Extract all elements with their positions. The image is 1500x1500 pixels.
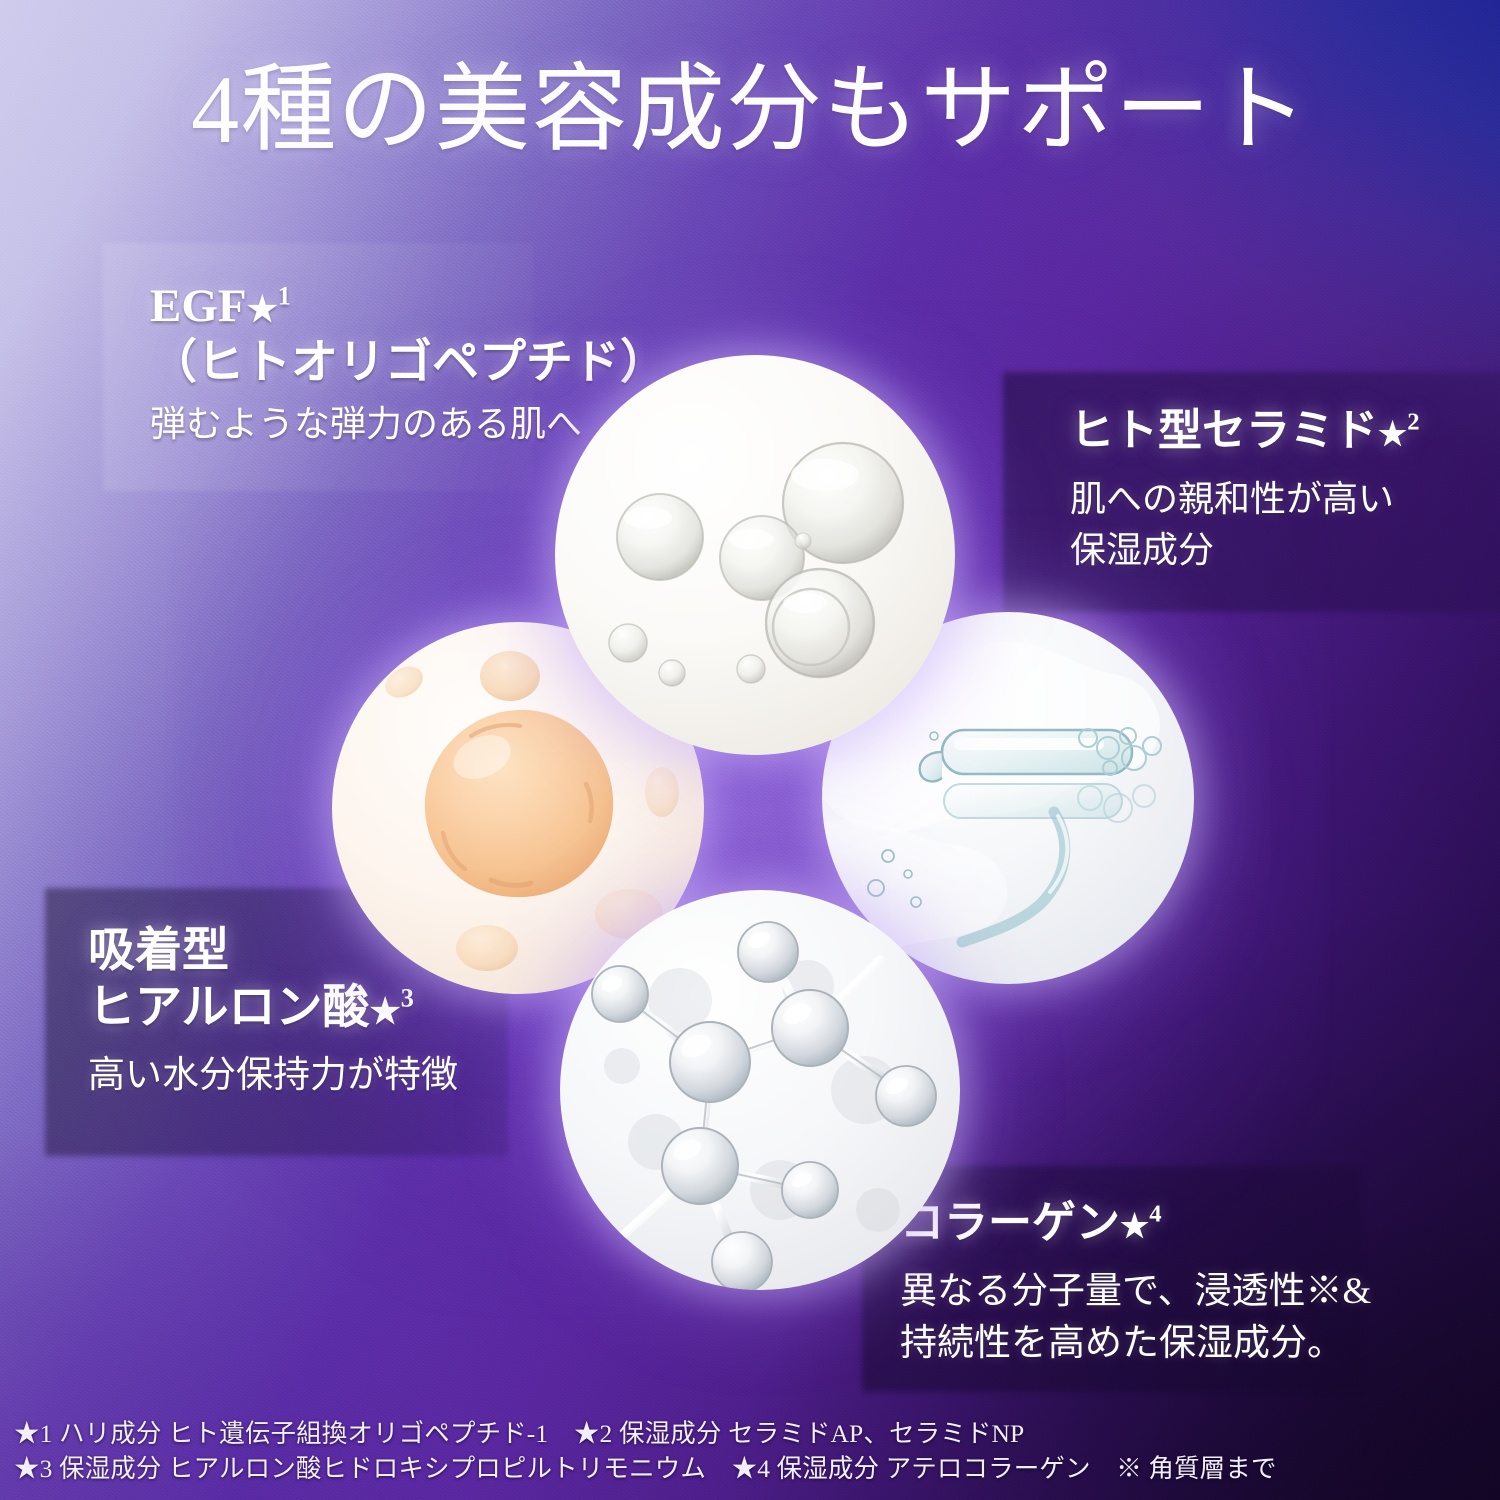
collagen-footnote-ref: 4: [1149, 1200, 1161, 1227]
star-icon: ★: [1120, 1209, 1149, 1245]
ceramide-heading-name: ヒト型セラミド: [1070, 406, 1378, 455]
star-icon: ★: [370, 992, 401, 1031]
collagen-description-line2: 持続性を高めた保湿成分。: [900, 1318, 1380, 1371]
ceramide-heading: ヒト型セラミド★2: [1070, 404, 1490, 458]
footnote-line-1: ★1 ハリ成分 ヒト遺伝子組換オリゴペプチド-1 ★2 保湿成分 セラミドAP、…: [14, 1416, 1277, 1451]
star-icon: ★: [247, 290, 278, 329]
ceramide-description-line2: 保湿成分: [1070, 525, 1490, 576]
hyaluronic-description: 高い水分保持力が特徴: [88, 1050, 558, 1103]
page-title: 4種の美容成分もサポート: [0, 58, 1500, 162]
molecule-circle-image: [560, 890, 960, 1290]
egf-heading-name: EGF: [150, 280, 247, 332]
collagen-heading: コラーゲン★4: [900, 1196, 1380, 1250]
ceramide-description-line1: 肌への親和性が高い: [1070, 474, 1490, 525]
egf-footnote-ref: 1: [278, 281, 291, 310]
ingredient-infographic-poster: 4種の美容成分もサポート: [0, 0, 1500, 1500]
collagen-description-line1: 異なる分子量で、浸透性※&: [900, 1266, 1380, 1319]
star-icon: ★: [1378, 417, 1407, 453]
ingredient-label-collagen: コラーゲン★4 異なる分子量で、浸透性※& 持続性を高めた保湿成分。: [900, 1196, 1380, 1371]
ceramide-description: 肌への親和性が高い 保湿成分: [1070, 474, 1490, 576]
collagen-description: 異なる分子量で、浸透性※& 持続性を高めた保湿成分。: [900, 1266, 1380, 1371]
ceramide-footnote-ref: 2: [1407, 408, 1419, 435]
ingredient-label-ceramide: ヒト型セラミド★2 肌への親和性が高い 保湿成分: [1070, 404, 1490, 576]
footnote-line-2: ★3 保湿成分 ヒアルロン酸ヒドロキシプロピルトリモニウム ★4 保湿成分 アテ…: [14, 1451, 1277, 1486]
footnotes: ★1 ハリ成分 ヒト遺伝子組換オリゴペプチド-1 ★2 保湿成分 セラミドAP、…: [14, 1416, 1277, 1486]
hyaluronic-heading-line2: ヒアルロン酸: [88, 982, 370, 1034]
bubbles-circle-image: [555, 355, 955, 755]
